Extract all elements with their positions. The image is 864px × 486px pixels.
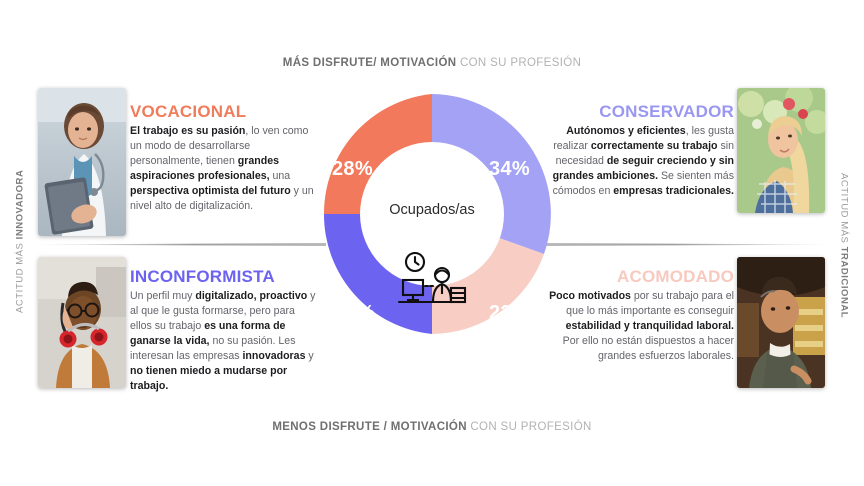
infographic-canvas: ACTITUD MÁS INNOVADORA ACTITUD MÁS TRADI…: [0, 0, 864, 486]
axis-label-top-rest: CON SU PROFESIÓN: [456, 57, 581, 69]
donut-value-vocacional: 28%: [332, 158, 373, 181]
quadrant-body-conservador: Autónomos y eficientes, les gusta realiz…: [548, 124, 734, 199]
divider-right: [538, 243, 838, 246]
axis-label-right-strong: TRADICIONAL: [839, 247, 850, 319]
axis-label-left: ACTITUD MÁS INNOVADORA: [15, 173, 26, 313]
quadrant-title-acomodado: ACOMODADO: [548, 268, 734, 286]
donut-value-conservador: 34%: [489, 158, 530, 181]
axis-label-left-rest: ACTITUD MÁS: [15, 239, 26, 313]
photo-blonde-woman-plaid-outdoors: [737, 88, 825, 213]
axis-label-right: ACTITUD MÁS TRADICIONAL: [839, 173, 850, 313]
quadrant-conservador: CONSERVADOR Autónomos y eficientes, les …: [548, 103, 734, 199]
quadrant-title-inconformista: INCONFORMISTA: [130, 268, 316, 286]
quadrant-title-conservador: CONSERVADOR: [548, 103, 734, 121]
quadrant-acomodado: ACOMODADO Poco motivados por su trabajo …: [548, 268, 734, 364]
axis-label-bottom-rest: CON SU PROFESIÓN: [467, 421, 592, 433]
axis-label-bottom-strong: MENOS DISFRUTE / MOTIVACIÓN: [272, 421, 467, 433]
quadrant-body-acomodado: Poco motivados por su trabajo para el qu…: [548, 289, 734, 364]
donut-value-acomodado: 22%: [489, 302, 530, 325]
quadrant-inconformista: INCONFORMISTA Un perfil muy digitalizado…: [130, 268, 316, 394]
worker-desk-clock-icon: [395, 250, 469, 306]
quadrant-title-vocacional: VOCACIONAL: [130, 103, 316, 121]
divider-left: [26, 243, 326, 246]
quadrant-body-inconformista: Un perfil muy digitalizado, proactivo y …: [130, 289, 316, 394]
quadrant-body-vocacional: El trabajo es su pasión, lo ven como un …: [130, 124, 316, 214]
donut-value-inconformista: 16%: [334, 302, 375, 325]
axis-label-top-strong: MÁS DISFRUTE/ MOTIVACIÓN: [283, 57, 457, 69]
axis-label-bottom: MENOS DISFRUTE / MOTIVACIÓN CON SU PROFE…: [0, 421, 864, 433]
axis-label-top: MÁS DISFRUTE/ MOTIVACIÓN CON SU PROFESIÓ…: [0, 57, 864, 69]
photo-man-glasses-red-headphones: [38, 257, 126, 388]
photo-man-apron-shop: [737, 257, 825, 388]
quadrant-vocacional: VOCACIONAL El trabajo es su pasión, lo v…: [130, 103, 316, 214]
